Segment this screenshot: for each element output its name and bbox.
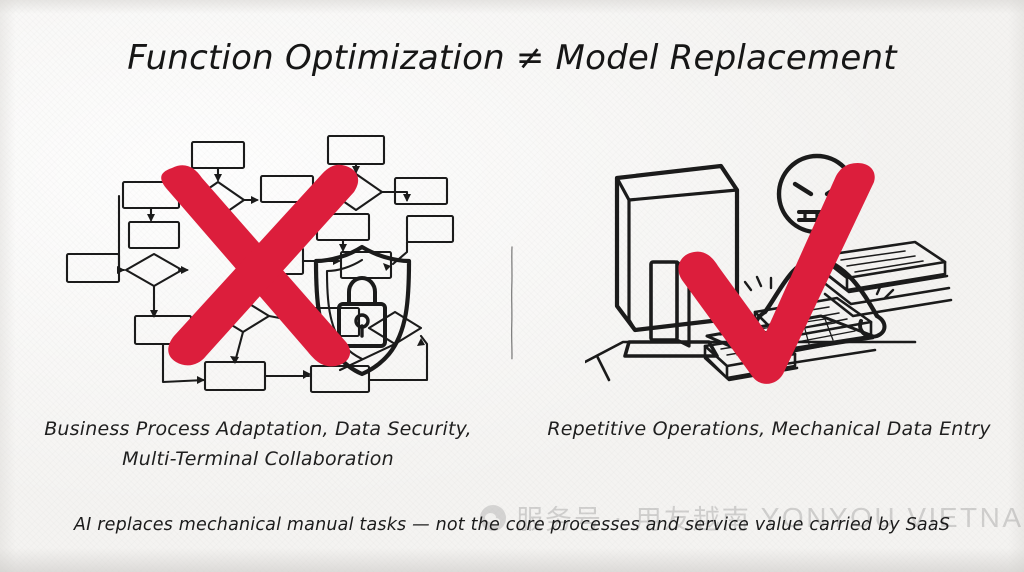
- panel-divider: [511, 135, 513, 471]
- page-title: Function Optimization ≠ Model Replacemen…: [0, 36, 1024, 80]
- red-cross-mark: [150, 160, 370, 370]
- left-panel-caption: Business Process Adaptation, Data Securi…: [28, 414, 488, 474]
- left-caption-line-1: Business Process Adaptation, Data Securi…: [28, 414, 488, 444]
- slide-canvas: Function Optimization ≠ Model Replacemen…: [0, 0, 1024, 572]
- left-caption-line-2: Multi-Terminal Collaboration: [28, 444, 488, 474]
- right-caption-line-1: Repetitive Operations, Mechanical Data E…: [534, 414, 1004, 444]
- red-check-mark: [660, 160, 890, 390]
- right-panel-caption: Repetitive Operations, Mechanical Data E…: [534, 414, 1004, 444]
- footer-note: AI replaces mechanical manual tasks — no…: [0, 512, 1024, 538]
